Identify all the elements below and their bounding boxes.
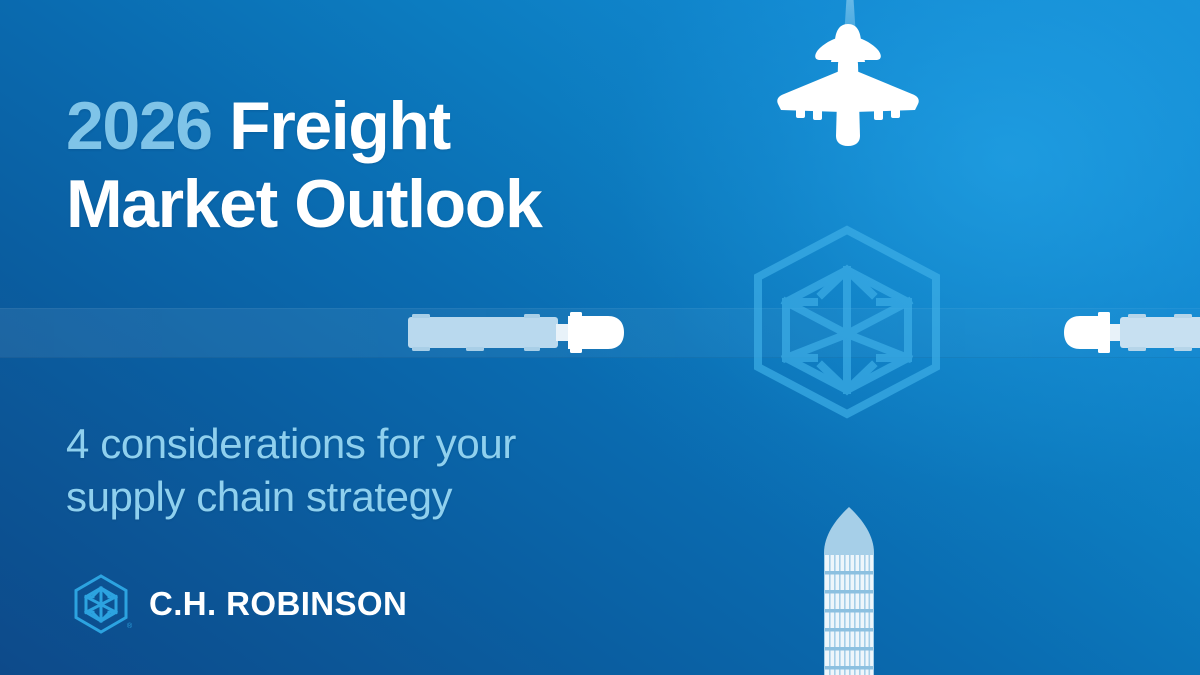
ch-robinson-hexagon-cube-icon: ® — [70, 573, 132, 635]
registered-trademark-symbol: ® — [127, 622, 132, 630]
hexagon-cube-watermark-icon — [742, 222, 952, 422]
subtitle-line1: 4 considerations for your — [66, 420, 516, 467]
headline-year: 2026 — [66, 88, 212, 164]
headline-line2: Market Outlook — [66, 166, 541, 242]
airplane-icon — [768, 18, 928, 148]
semi-truck-icon — [406, 310, 626, 355]
freight-market-outlook-banner: 2026 Freight Market Outlook 4 considerat… — [0, 0, 1200, 675]
page-title: 2026 Freight Market Outlook — [66, 88, 706, 243]
page-subtitle: 4 considerations for your supply chain s… — [66, 418, 686, 524]
semi-truck-icon — [1062, 310, 1200, 355]
subtitle-line2: supply chain strategy — [66, 473, 452, 520]
brand-logo: ® C.H. ROBINSON — [70, 573, 407, 635]
brand-wordmark: C.H. ROBINSON — [149, 585, 407, 623]
container-ship-icon — [818, 505, 880, 675]
headline-line1-rest: Freight — [212, 88, 450, 164]
